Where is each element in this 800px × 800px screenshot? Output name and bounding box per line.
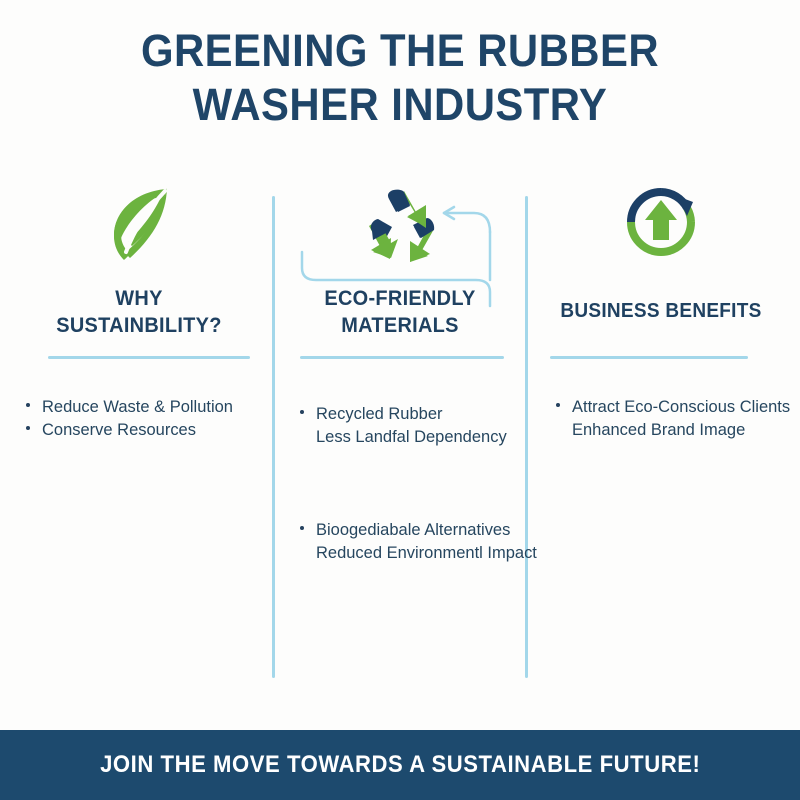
list-item: Recycled Rubber Less Landfal Dependency <box>284 402 528 448</box>
columns-region: WHY SUSTAINBILITY? Reduce Waste & Pollut… <box>0 180 800 700</box>
bullet-list-why-sustainability: Reduce Waste & Pollution Conserve Resour… <box>10 395 268 441</box>
list-item: Bioogediabale Alternatives Reduced Envir… <box>284 518 528 564</box>
page-title: GREENING THE RUBBER WASHER INDUSTRY <box>0 24 800 132</box>
column-heading-line-2: MATERIALS <box>284 312 516 339</box>
list-item: Reduce Waste & Pollution <box>10 395 268 418</box>
bullet-dot-icon <box>300 410 304 414</box>
list-item: Attract Eco-Conscious Clients Enhanced B… <box>540 395 798 441</box>
bullet-line: Bioogediabale Alternatives <box>316 518 522 541</box>
bullet-dot-icon <box>300 526 304 530</box>
bullet-line: Less Landfal Dependency <box>316 425 522 448</box>
bullet-line: Reduced Environmentl Impact <box>316 541 522 564</box>
bullet-line: Recycled Rubber <box>316 402 522 425</box>
footer-cta-banner: JOIN THE MOVE TOWARDS A SUSTAINABLE FUTU… <box>0 730 800 800</box>
column-heading-line-1: BUSINESS BENEFITS <box>538 298 783 325</box>
infographic-canvas: GREENING THE RUBBER WASHER INDUSTRY WHY … <box>0 0 800 800</box>
column-why-sustainability: WHY SUSTAINBILITY? Reduce Waste & Pollut… <box>10 180 268 700</box>
column-business-benefits: BUSINESS BENEFITS Attract Eco-Conscious … <box>532 180 790 700</box>
recycle-icon <box>278 186 522 266</box>
column-heading-line-1: WHY <box>16 285 261 312</box>
bullet-line: Reduce Waste & Pollution <box>42 395 261 418</box>
bullet-line: Enhanced Brand Image <box>572 418 791 441</box>
column-eco-friendly-materials: ECO-FRIENDLY MATERIALS Recycled Rubber L… <box>278 180 522 700</box>
bullet-list-business-benefits: Attract Eco-Conscious Clients Enhanced B… <box>540 395 798 441</box>
circular-arrow-up-icon <box>532 182 790 262</box>
column-heading-line-1: ECO-FRIENDLY <box>284 285 516 312</box>
bullet-line: Attract Eco-Conscious Clients <box>572 395 791 418</box>
column-heading-business-benefits: BUSINESS BENEFITS <box>538 298 783 325</box>
column-heading-why-sustainability: WHY SUSTAINBILITY? <box>16 285 261 339</box>
bullet-list-eco-friendly-materials: Recycled Rubber Less Landfal Dependency … <box>284 402 528 564</box>
footer-cta-text: JOIN THE MOVE TOWARDS A SUSTAINABLE FUTU… <box>100 751 700 779</box>
list-item: Conserve Resources <box>10 418 268 441</box>
heading-rule-1 <box>48 356 250 359</box>
heading-rule-3 <box>550 356 748 359</box>
bullet-dot-icon <box>556 403 560 407</box>
page-title-line-2: WASHER INDUSTRY <box>28 78 772 132</box>
bullet-line: Conserve Resources <box>42 418 261 441</box>
column-heading-eco-friendly-materials: ECO-FRIENDLY MATERIALS <box>284 285 516 339</box>
bullet-dot-icon <box>26 403 30 407</box>
bullet-dot-icon <box>26 426 30 430</box>
column-heading-line-2: SUSTAINBILITY? <box>16 312 261 339</box>
heading-rule-2 <box>300 356 504 359</box>
page-title-line-1: GREENING THE RUBBER <box>28 24 772 78</box>
leaf-icon <box>10 186 268 266</box>
